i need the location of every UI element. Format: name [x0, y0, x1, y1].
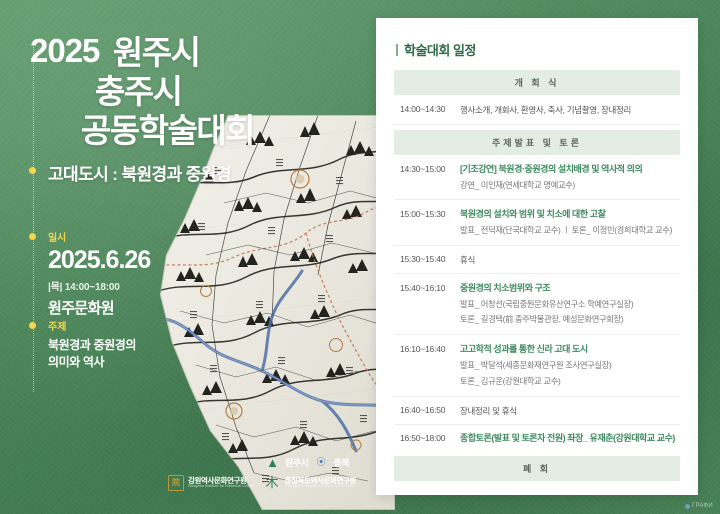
bullet-dot-topic: [29, 322, 36, 329]
topic-label: 주제: [48, 318, 136, 333]
poster-subtitle: 고대도시 : 북원경과 중원경: [48, 160, 231, 185]
bullet-dot-subtitle: [29, 167, 36, 174]
row-plain-text: 행사소개, 개회사, 환영사, 축사, 기념촬영, 장내정리: [460, 103, 678, 116]
band-opening: 개 회 식: [394, 70, 680, 95]
row-time: 16:50~18:00: [396, 432, 460, 443]
row-subtitle-2: 토론_ 길경택(前 충주박물관장, 예성문화연구회장): [460, 313, 678, 326]
row-body: 휴식: [460, 253, 678, 266]
watermark-dot-icon: [685, 504, 690, 509]
row-subtitle: 발표_ 전덕재(단국대학교 교수) ㅣ 토론_ 이정빈(경희대학교 교수): [460, 224, 678, 237]
table-row: 16:10~16:40 고고학적 성과를 통한 신라 고대 도시 발표_ 박달석…: [394, 335, 680, 396]
row-plain-text: 휴식: [460, 253, 678, 266]
row-title: 북원경의 설치와 범위 및 치소에 대한 고찰: [460, 208, 678, 221]
logo-label-wonju: 원주시: [285, 456, 309, 469]
poster-title-block: 2025 원주시 충주시 공동학술대회: [30, 34, 360, 151]
logo-text-gangwon: 강원역사문화연구원 Gangwon Institute for Historic…: [188, 477, 255, 489]
poster-title-line-2: 충주시: [95, 73, 254, 112]
schedule-panel-title: 학술대회 일정: [394, 40, 680, 59]
row-subtitle-2: 토론_ 김규운(강원대학교 교수): [460, 375, 678, 388]
row-body: 북원경의 설치와 범위 및 치소에 대한 고찰 발표_ 전덕재(단국대학교 교수…: [460, 208, 678, 236]
chungbuk-swirl-icon: ⦿: [313, 454, 330, 471]
logo-sublabel-chungbuk-institute: Chungbuk Institute of History and Cultur…: [285, 485, 357, 489]
schedule-panel: 학술대회 일정 개 회 식 14:00~14:30 행사소개, 개회사, 환영사…: [376, 18, 698, 495]
row-title: 고고학적 성과를 통한 신라 고대 도시: [460, 343, 678, 356]
band-closing: 폐 회: [394, 456, 680, 481]
table-row: 15:40~16:10 중원경의 치소범위와 구조 발표_ 어창선(국립중원문화…: [394, 274, 680, 335]
date-label: 일시: [48, 229, 150, 244]
poster-canvas: 2025 원주시 충주시 공동학술대회 고대도시 : 북원경과 중원경 일시 2…: [0, 0, 720, 514]
topic-line-1: 북원경과 중원경의: [48, 337, 136, 354]
row-time: 14:00~14:30: [396, 103, 460, 114]
table-row: 16:40~16:50 장내정리 및 휴식: [394, 397, 680, 425]
row-time: 16:40~16:50: [396, 404, 460, 415]
row-subtitle: 발표_ 박달석(세종문화재연구원 조사연구실장): [460, 359, 678, 372]
row-body: [기조강연] 북원경·중원경의 설치배경 및 역사적 의의 강연_ 이인재(연세…: [460, 163, 678, 191]
row-title: 중원경의 치소범위와 구조: [460, 282, 678, 295]
logo-row-bottom: 院 강원역사문화연구원 Gangwon Institute for Histor…: [168, 474, 356, 491]
date-value: 2025.6.26: [48, 248, 150, 273]
organizer-logos: ▲ 원주시 ⦿ 충북 院 강원역사문화연구원 Gangwon Institute…: [168, 452, 358, 496]
title-tick-icon: [396, 44, 398, 56]
table-row: 14:30~15:00 [기조강연] 북원경·중원경의 설치배경 및 역사적 의…: [394, 155, 680, 200]
row-body: 행사소개, 개회사, 환영사, 축사, 기념촬영, 장내정리: [460, 103, 678, 116]
table-row: 15:30~15:40 휴식: [394, 246, 680, 274]
poster-title-lines: 원주시 충주시 공동학술대회: [113, 34, 254, 151]
row-body: 고고학적 성과를 통한 신라 고대 도시 발표_ 박달석(세종문화재연구원 조사…: [460, 343, 678, 387]
poster-topic-block: 주제 북원경과 중원경의 의미와 역사: [48, 318, 136, 372]
row-time: 15:40~16:10: [396, 282, 460, 293]
table-row: 16:50~18:00 종합토론(발표 및 토론자 전원) 좌장_ 유재춘(강원…: [394, 425, 680, 452]
watermark-text: ГРАФИ: [692, 503, 713, 509]
poster-date-block: 일시 2025.6.26 |목| 14:00~18:00 원주문화원: [48, 229, 150, 318]
poster-title-line-1: 원주시: [113, 34, 254, 73]
row-time: 15:30~15:40: [396, 253, 460, 264]
row-time: 16:10~16:40: [396, 343, 460, 354]
schedule-panel-title-text: 학술대회 일정: [404, 40, 476, 59]
poster-year: 2025: [30, 34, 99, 67]
row-plain-text: 장내정리 및 휴식: [460, 404, 678, 417]
time-value: |목| 14:00~18:00: [48, 278, 150, 293]
logo-label-chungbuk: 충북: [334, 456, 350, 469]
row-subtitle: 발표_ 어창선(국립중원문화유산연구소 학예연구실장): [460, 298, 678, 311]
topic-line-2: 의미와 역사: [48, 354, 136, 371]
row-subtitle: 강연_ 이인재(연세대학교 명예교수): [460, 179, 678, 192]
band-presentation: 주제발표 및 토론: [394, 130, 680, 155]
logo-sublabel-gangwon: Gangwon Institute for Historical Culture: [188, 485, 255, 489]
logo-row-top: ▲ 원주시 ⦿ 충북: [264, 454, 349, 471]
gangwon-seal-icon: 院: [168, 475, 184, 491]
row-time: 15:00~15:30: [396, 208, 460, 219]
row-body: 중원경의 치소범위와 구조 발표_ 어창선(국립중원문화유산연구소 학예연구실장…: [460, 282, 678, 326]
bullet-dot-date: [29, 233, 36, 240]
row-title: 종합토론(발표 및 토론자 전원) 좌장_ 유재춘(강원대학교 교수): [460, 432, 678, 445]
chungbuk-institute-icon: 木: [264, 474, 281, 491]
wonju-tree-icon: ▲: [264, 454, 281, 471]
row-time: 14:30~15:00: [396, 163, 460, 174]
poster-title-line-3: 공동학술대회: [81, 112, 254, 151]
poster-left-column: 2025 원주시 충주시 공동학술대회 고대도시 : 북원경과 중원경 일시 2…: [0, 0, 372, 514]
table-row: 14:00~14:30 행사소개, 개회사, 환영사, 축사, 기념촬영, 장내…: [394, 95, 680, 125]
venue-value: 원주문화원: [48, 297, 150, 318]
table-row: 15:00~15:30 북원경의 설치와 범위 및 치소에 대한 고찰 발표_ …: [394, 200, 680, 245]
logo-text-chungbuk-institute: 충청북도역사문화연구원 Chungbuk Institute of Histor…: [285, 477, 357, 489]
watermark: ГРАФИ: [685, 503, 713, 509]
row-body: 종합토론(발표 및 토론자 전원) 좌장_ 유재춘(강원대학교 교수): [460, 432, 678, 445]
row-body: 장내정리 및 휴식: [460, 404, 678, 417]
row-title: [기조강연] 북원경·중원경의 설치배경 및 역사적 의의: [460, 163, 678, 176]
